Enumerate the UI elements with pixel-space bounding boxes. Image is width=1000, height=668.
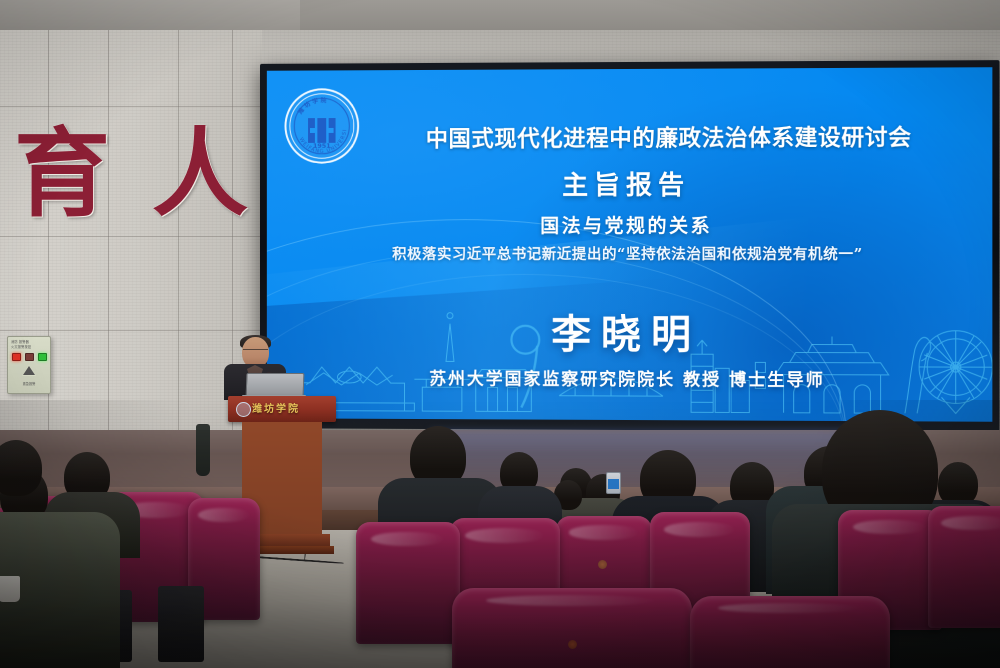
conference-hall-photo: 育 人 消防 报警器 火灾报警按钮 紧急报警 — [0, 0, 1000, 668]
wall-slogan: 育 人 — [14, 118, 214, 230]
paper-cup — [0, 576, 20, 602]
indicator-lights — [11, 353, 47, 361]
presentation-keynote-label: 主旨报告 — [267, 164, 993, 202]
fire-alarm-control-panel[interactable]: 消防 报警器 火灾报警按钮 紧急报警 — [7, 336, 51, 394]
wall-seam — [0, 236, 262, 237]
audience-head — [0, 440, 42, 496]
control-panel-subtitle: 火灾报警按钮 — [11, 345, 47, 350]
speaker-name: 李晓明 — [267, 301, 993, 361]
presentation-topic: 国法与党规的关系 — [267, 211, 993, 238]
speaker-affiliation: 苏州大学国家监察研究院院长 教授 博士生导师 — [267, 364, 993, 392]
alarm-triangle-icon — [22, 365, 36, 376]
weifang-university-logo: 1951 WEIFANG UNIVERSITY 潍 坊 学 院 — [284, 88, 359, 164]
svg-text:潍 坊 学 院: 潍 坊 学 院 — [296, 96, 327, 116]
presentation-quote: 积极落实习近平总书记新近提出的“坚持依法治国和依规治党有机统一” — [267, 243, 993, 264]
audience-chair-front — [690, 596, 890, 668]
chair-stud-icon — [598, 560, 607, 569]
audience-area — [0, 400, 1000, 668]
glasses-icon — [243, 349, 268, 355]
led-off-icon — [25, 353, 34, 361]
led-green-icon — [38, 353, 47, 361]
wall-seam — [0, 330, 262, 331]
smartphone[interactable] — [606, 472, 621, 494]
audience-chair — [356, 522, 460, 644]
projection-screen-bezel: 1951 WEIFANG UNIVERSITY 潍 坊 学 院 — [260, 60, 1000, 432]
ceiling-soffit-left — [0, 0, 300, 30]
audience-chair — [928, 506, 1000, 628]
wall-character-ren: 人 — [152, 126, 248, 222]
chair-stud-icon — [568, 640, 577, 649]
wall-seam — [0, 106, 262, 107]
chair-armrest — [158, 586, 204, 662]
control-panel-footer: 紧急报警 — [11, 381, 47, 386]
led-red-icon — [12, 353, 21, 361]
audience-chair-front — [452, 588, 692, 668]
presentation-title: 中国式现代化进程中的廉政法治体系建设研讨会 — [351, 120, 988, 154]
wall-character-yu: 育 — [14, 126, 110, 222]
presentation-screen: 1951 WEIFANG UNIVERSITY 潍 坊 学 院 — [267, 67, 993, 422]
